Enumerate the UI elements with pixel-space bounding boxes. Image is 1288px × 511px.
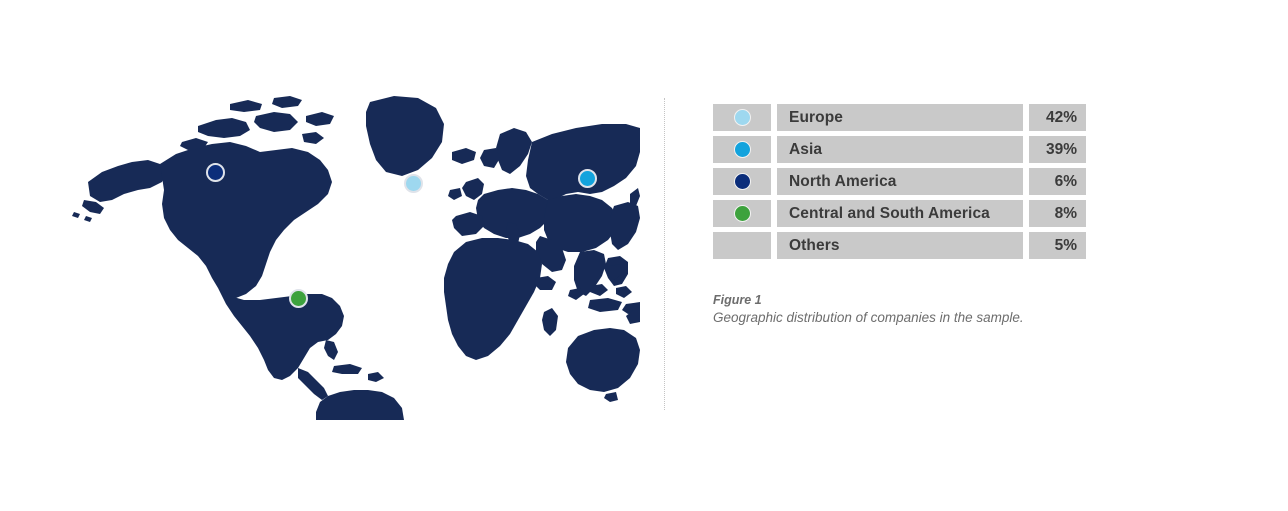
map-marker-europe[interactable] xyxy=(404,174,423,193)
legend-color-dot-asia xyxy=(734,141,751,158)
legend-swatch-cell xyxy=(713,232,771,259)
map-marker-north-america[interactable] xyxy=(206,163,225,182)
legend-value-cell: 42% xyxy=(1029,104,1086,131)
legend-value: 39% xyxy=(1046,141,1077,159)
legend-table: Europe 42% Asia 39% North America xyxy=(713,104,1086,264)
legend-label: Others xyxy=(789,237,840,255)
world-map-panel xyxy=(70,90,640,420)
legend-value-cell: 39% xyxy=(1029,136,1086,163)
legend-label: Asia xyxy=(789,141,822,159)
legend-value: 8% xyxy=(1055,205,1077,223)
legend-label: Central and South America xyxy=(789,205,990,223)
legend-row-central-and-south-america[interactable]: Central and South America 8% xyxy=(713,200,1086,227)
figure-root: Europe 42% Asia 39% North America xyxy=(0,0,1288,511)
vertical-divider xyxy=(664,98,665,410)
legend-row-europe[interactable]: Europe 42% xyxy=(713,104,1086,131)
legend-color-dot-central-and-south-america xyxy=(734,205,751,222)
legend-swatch-cell xyxy=(713,168,771,195)
legend-swatch-cell xyxy=(713,200,771,227)
world-map-graphic xyxy=(70,90,640,420)
legend-label-cell: Europe xyxy=(777,104,1023,131)
legend-row-north-america[interactable]: North America 6% xyxy=(713,168,1086,195)
legend-row-others[interactable]: Others 5% xyxy=(713,232,1086,259)
map-marker-asia[interactable] xyxy=(578,169,597,188)
legend-color-dot-europe xyxy=(734,109,751,126)
legend-value-cell: 8% xyxy=(1029,200,1086,227)
caption-title: Figure 1 xyxy=(713,292,1133,308)
legend-value-cell: 5% xyxy=(1029,232,1086,259)
figure-caption: Figure 1 Geographic distribution of comp… xyxy=(713,292,1133,327)
map-marker-central-south-america[interactable] xyxy=(289,289,308,308)
legend-value: 5% xyxy=(1055,237,1077,255)
legend-label-cell: Others xyxy=(777,232,1023,259)
legend-label-cell: Central and South America xyxy=(777,200,1023,227)
legend-value: 6% xyxy=(1055,173,1077,191)
legend-label: North America xyxy=(789,173,897,191)
legend-row-asia[interactable]: Asia 39% xyxy=(713,136,1086,163)
legend-label-cell: North America xyxy=(777,168,1023,195)
caption-text: Geographic distribution of companies in … xyxy=(713,309,1133,327)
legend-label-cell: Asia xyxy=(777,136,1023,163)
legend-swatch-cell xyxy=(713,104,771,131)
legend-swatch-cell xyxy=(713,136,771,163)
legend-color-dot-north-america xyxy=(734,173,751,190)
legend-label: Europe xyxy=(789,109,843,127)
legend-value-cell: 6% xyxy=(1029,168,1086,195)
legend-value: 42% xyxy=(1046,109,1077,127)
